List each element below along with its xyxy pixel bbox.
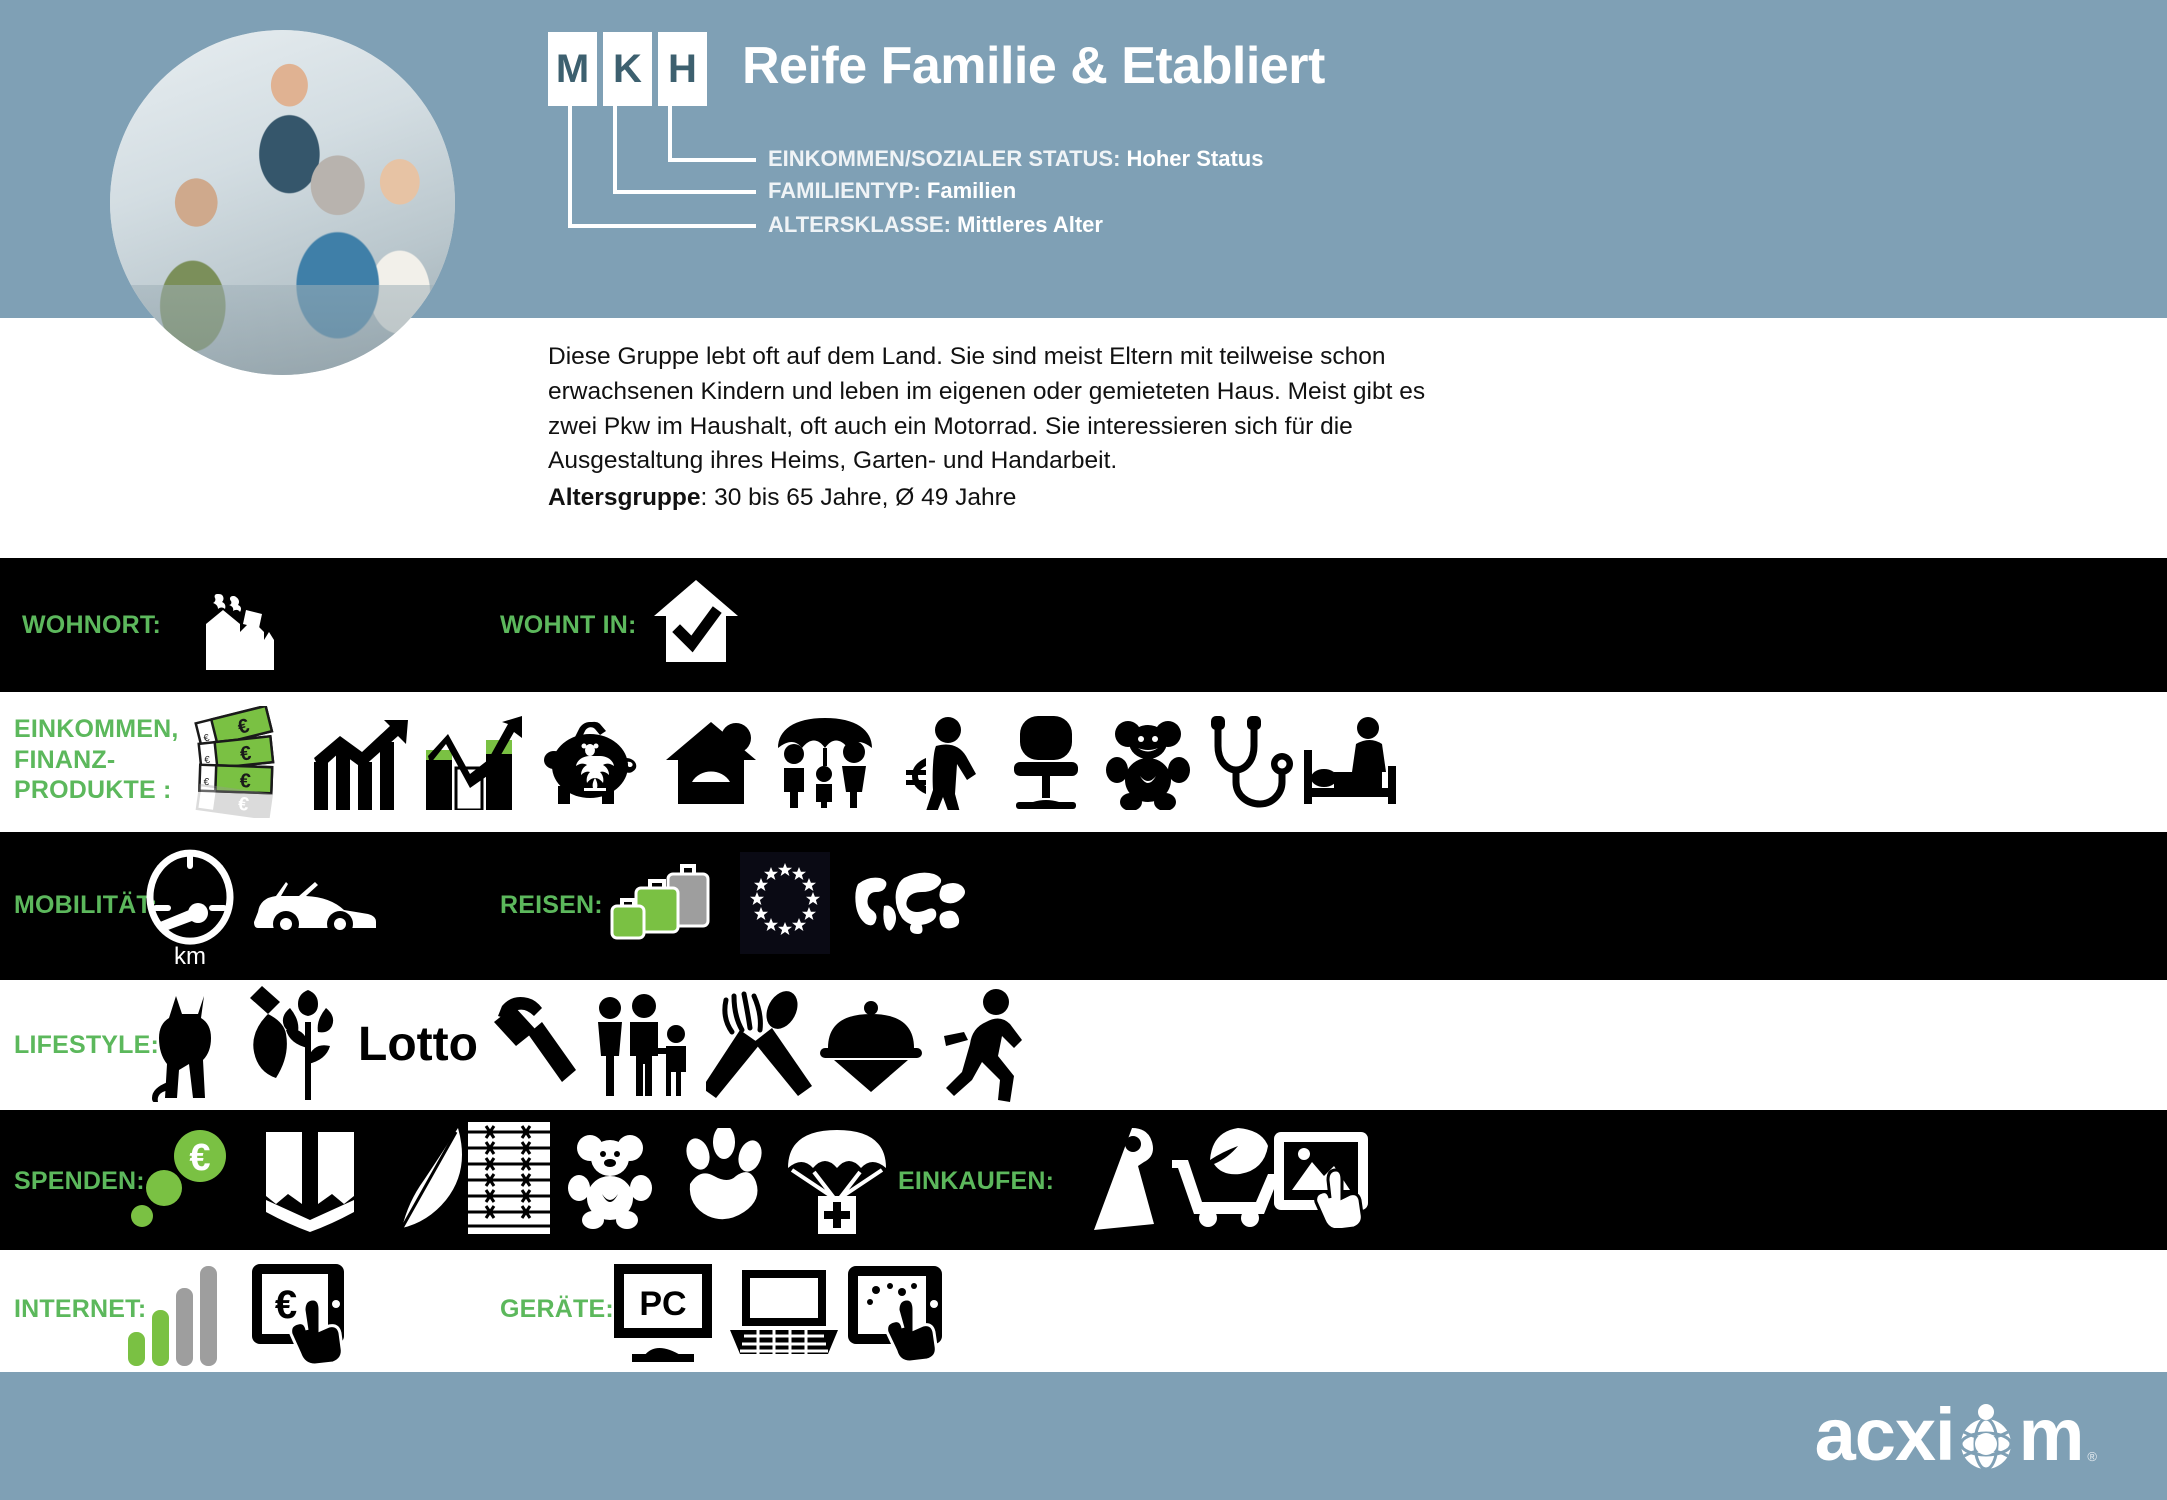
world-map-icon [848,866,972,938]
convertible-car-icon [252,872,376,938]
row-mobilitaet: MOBILITÄT: km [0,832,2167,980]
house-check-icon [652,576,740,672]
row-spenden: SPENDEN: € [0,1110,2167,1250]
age-group-value: : 30 bis 65 Jahre, Ø 49 Jahre [700,484,1016,511]
code-box-h: H [658,32,707,106]
price-tag-icon [1078,1126,1164,1232]
gardening-flower-icon [238,984,348,1102]
leader-line-ageclass-horizontal [568,224,756,228]
meta-income-value: Hoher Status [1127,146,1264,171]
meta-age-class: ALTERSKLASSE: Mittleres Alter [768,212,1103,238]
age-group-line: Altersgruppe: 30 bis 65 Jahre, Ø 49 Jahr… [548,481,1448,516]
page-title: Reife Familie & Etabliert [742,36,1325,96]
piggy-bank-icon [540,716,648,808]
svg-text:€: € [239,770,251,792]
open-book-icon [258,1128,362,1232]
house-savings-icon [662,720,760,806]
meta-age-label: ALTERSKLASSE: [768,212,951,237]
code-box-m: M [548,32,597,106]
teddy-bear-icon [1100,714,1196,810]
row-einkommen: EINKOMMEN, FINANZ- PRODUKTE : € € € € [0,692,2167,832]
feather-icon [372,1124,468,1234]
row-label-einkaufen: EINKAUFEN: [898,1166,1054,1197]
tablet-touch-icon [1272,1128,1376,1228]
runner-icon [940,988,1028,1102]
footer-bar: acxi m ® [0,1372,2167,1500]
description-paragraph: Diese Gruppe lebt oft auf dem Land. Sie … [548,340,1448,479]
age-group-label: Altersgruppe [548,484,700,511]
lotto-icon: Lotto [358,1016,498,1072]
family-group-icon [588,994,694,1096]
photo-floor-shade [110,285,455,375]
leader-line-familytype-horizontal [613,190,756,194]
meta-family-label: FAMILIENTYP: [768,178,921,203]
leader-line-familytype-vertical [613,106,617,194]
hammer-icon [484,992,576,1098]
segment-code-boxes: M K H [548,32,707,106]
speedometer-km-icon: km [138,846,242,970]
logo-text-start: acxi [1815,1398,1955,1472]
trademark-symbol: ® [2087,1449,2097,1464]
svg-text:€: € [189,1137,210,1179]
rising-bar-chart-icon [310,718,410,810]
barbed-wire-icon [468,1122,550,1234]
svg-text:€: € [275,1283,297,1327]
eu-stars-icon [740,852,830,954]
shopping-cart-leaf-icon [1168,1126,1274,1230]
meta-family-value: Familien [927,178,1016,203]
svg-text:Lotto: Lotto [358,1018,478,1071]
paw-print-icon [674,1128,770,1228]
meta-family-type: FAMILIENTYP: Familien [768,178,1016,204]
row-label-reisen: REISEN: [500,890,603,921]
leader-line-income-vertical [668,106,672,162]
signal-bars-icon [126,1264,220,1368]
leader-line-income-horizontal [668,158,756,162]
acxiom-logo: acxi m ® [1815,1398,2097,1472]
meta-income-status: EINKOMMEN/SOZIALER STATUS: Hoher Status [768,146,1263,172]
office-chair-icon [1000,712,1092,812]
row-internet: INTERNET: € GERÄTE: PC [0,1250,2167,1372]
teddy-bear-icon [562,1130,658,1230]
care-bed-icon [1300,714,1404,806]
row-label-einkommen: EINKOMMEN, FINANZ- PRODUKTE : [14,714,179,806]
svg-text:€: € [239,742,252,765]
village-houses-icon [186,582,282,670]
leader-line-ageclass-vertical [568,106,572,228]
row-label-wohnort: WOHNORT: [22,610,161,641]
euro-coins-icon: € [130,1130,236,1230]
volatile-chart-icon [424,716,528,810]
svg-text:km: km [174,943,206,970]
aid-parachute-icon [782,1124,892,1236]
row-label-lifestyle: LIFESTYLE: [14,1030,159,1061]
row-label-geraete: GERÄTE: [500,1294,614,1325]
luggage-icon [606,858,716,946]
logo-text-end: m [2019,1398,2084,1472]
code-box-k: K [603,32,652,106]
cooking-whisk-icon [706,988,812,1102]
row-wohnort: WOHNORT: WOHNT IN: [0,558,2167,692]
stethoscope-icon [1200,712,1300,812]
row-label-mobilitaet: MOBILITÄT: [14,890,158,921]
family-umbrella-icon [770,714,880,808]
pension-euro-icon [892,714,988,810]
row-label-wohnt-in: WOHNT IN: [500,610,637,641]
svg-text:PC: PC [639,1285,686,1323]
row-label-spenden: SPENDEN: [14,1166,145,1197]
food-cloche-icon [816,1000,926,1094]
meta-age-value: Mittleres Alter [957,212,1103,237]
tablet-euro-touch-icon: € [248,1260,358,1368]
cat-icon [146,990,236,1102]
meta-income-label: EINKOMMEN/SOZIALER STATUS: [768,146,1120,171]
pc-monitor-icon: PC [608,1260,718,1366]
globe-icon [1949,1398,2023,1472]
laptop-icon [726,1268,842,1360]
avatar [110,30,455,375]
euro-banknotes-icon: € € € € € € [188,706,284,818]
row-lifestyle: LIFESTYLE: Lotto [0,980,2167,1110]
description-block: Diese Gruppe lebt oft auf dem Land. Sie … [548,340,1448,516]
tablet-touch-dark-icon [846,1264,956,1364]
